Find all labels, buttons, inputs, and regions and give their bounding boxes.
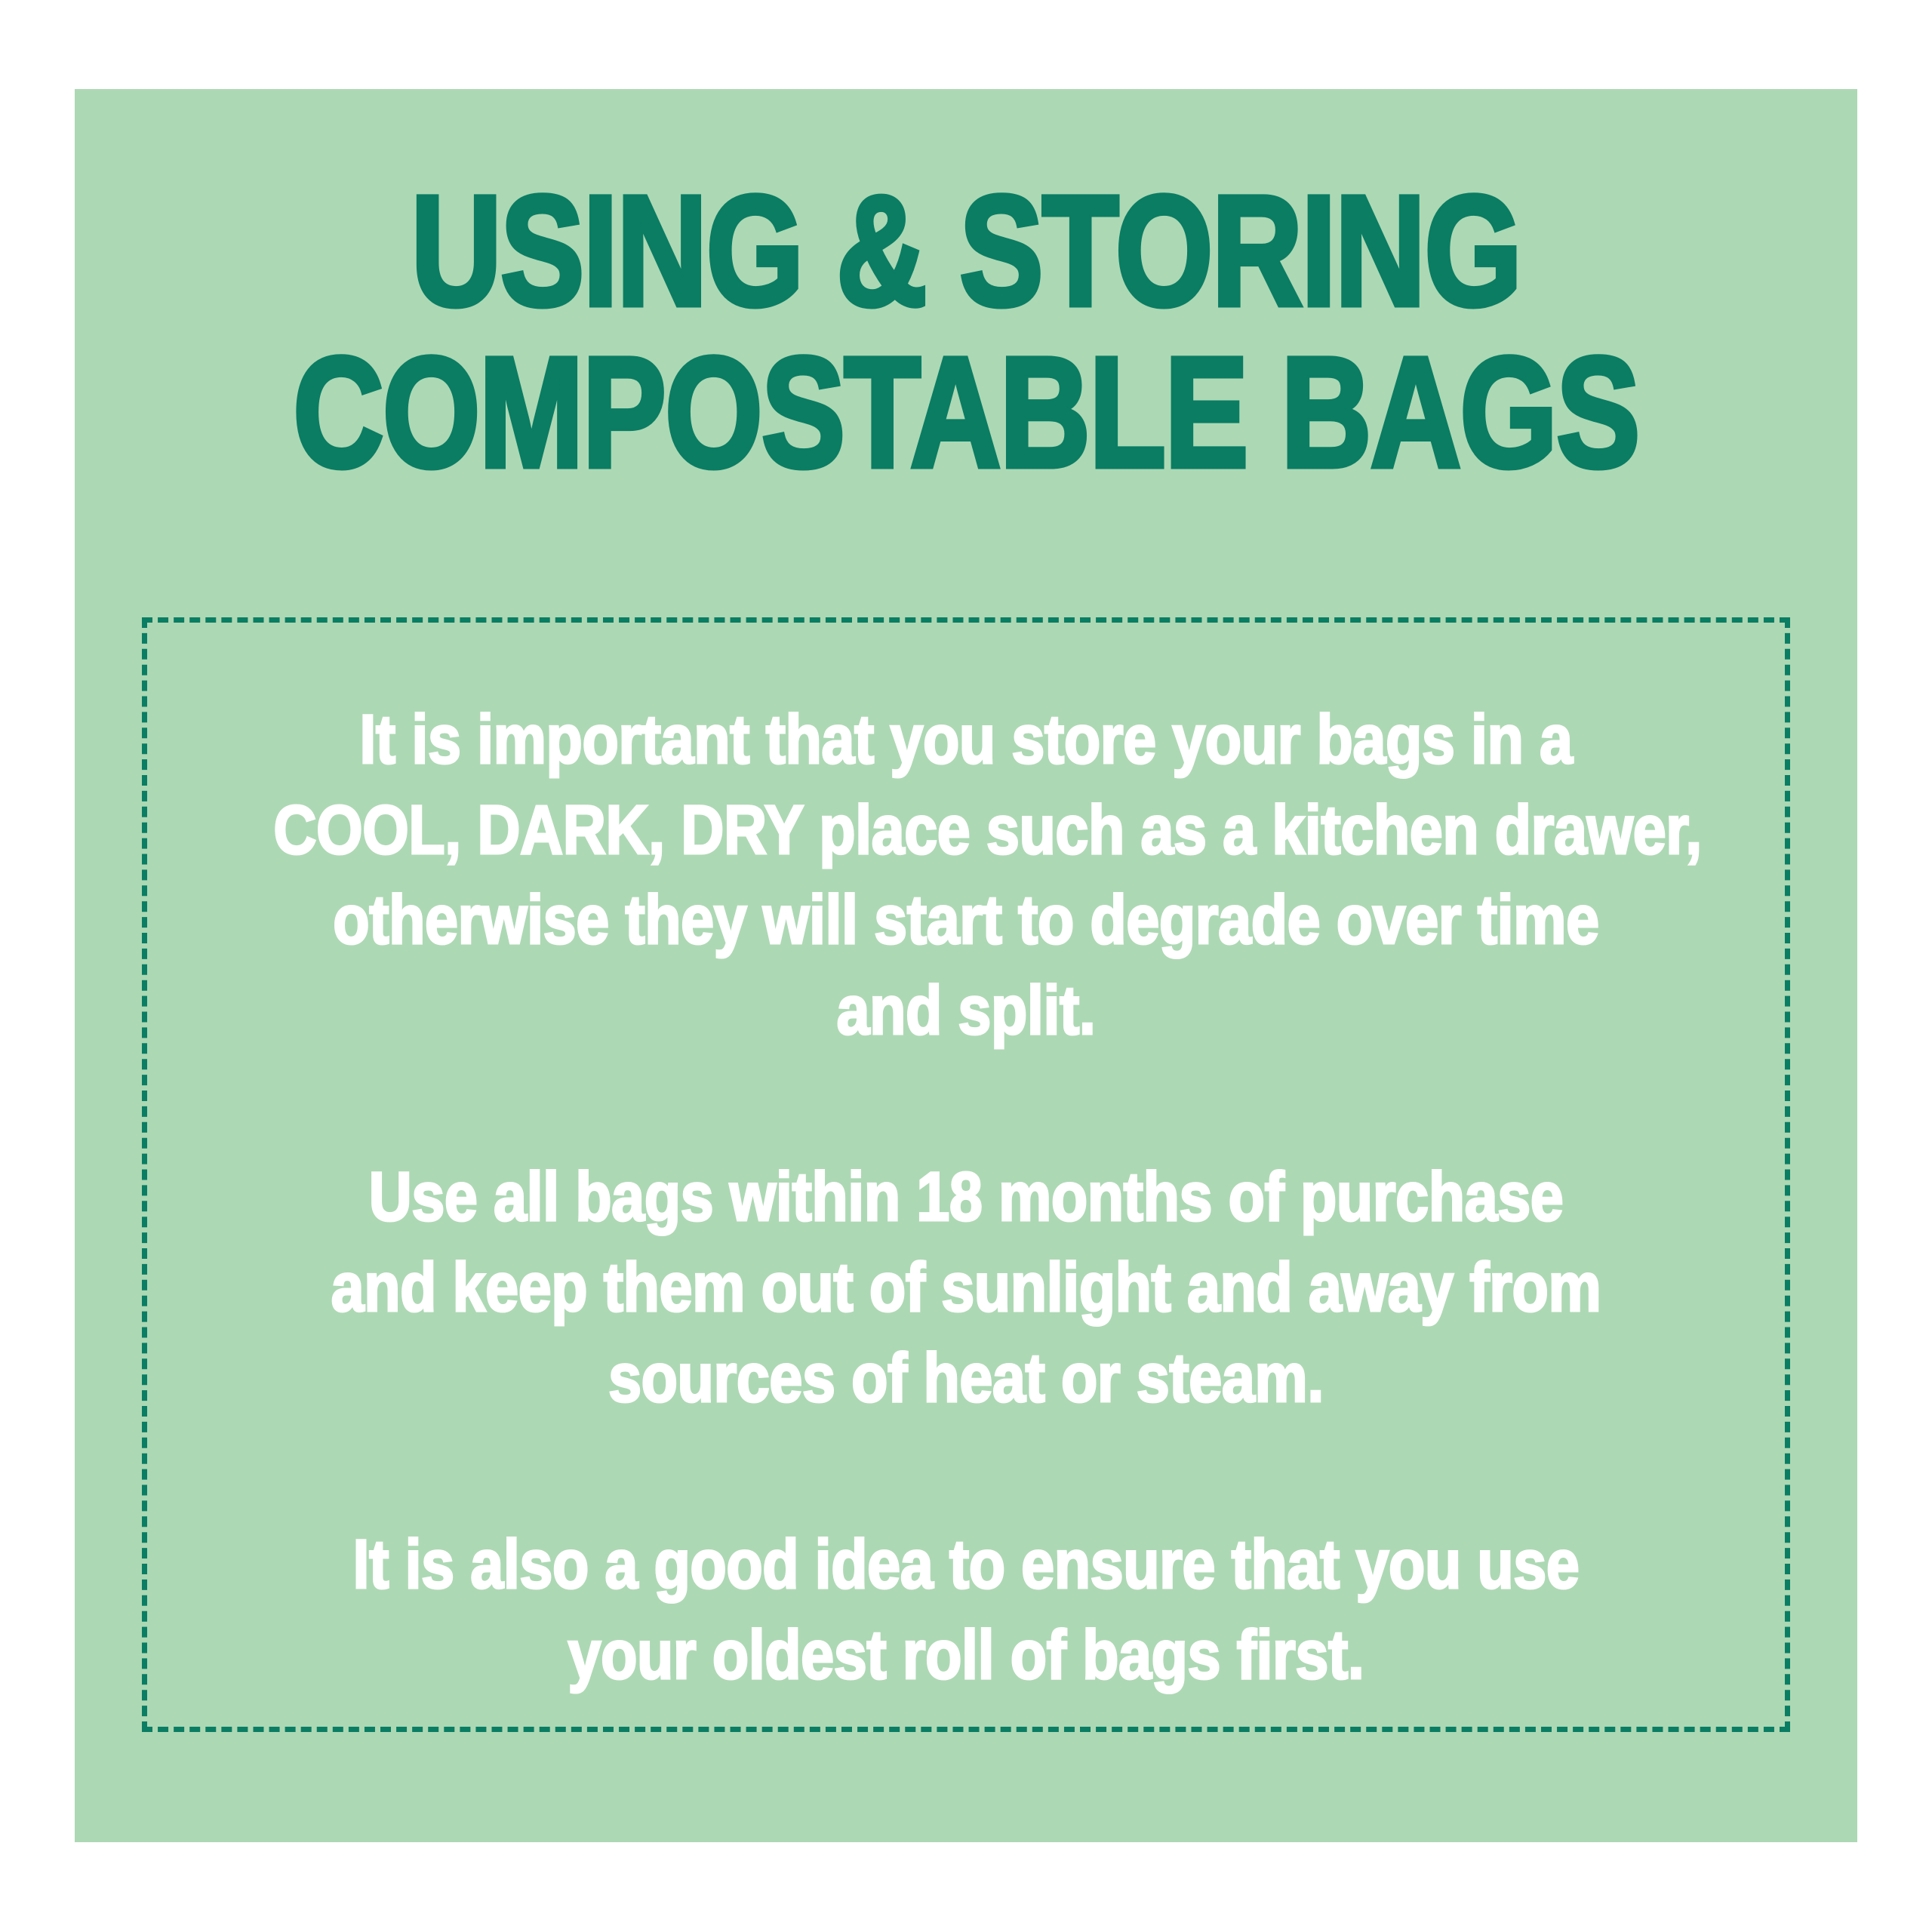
paragraph-line: It is important that you store your bags… [273, 695, 1658, 786]
dashed-content-box: It is important that you store your bags… [142, 617, 1790, 1732]
paragraph-shelf-life: Use all bags within 18 months of purchas… [273, 1152, 1658, 1423]
page-title-line-2: COMPOSTABLE BAGS [253, 332, 1679, 494]
body-copy: It is important that you store your bags… [147, 695, 1785, 1700]
paragraph-line: otherwise they will start to degrade ove… [273, 875, 1658, 966]
paragraph-line: It is also a good idea to ensure that yo… [273, 1520, 1658, 1611]
paragraph-line: your oldest roll of bags first. [273, 1611, 1658, 1701]
paragraph-line: and split. [273, 966, 1658, 1057]
paragraph-line: and keep them out of sunlight and away f… [273, 1243, 1658, 1334]
paragraph-line: COOL, DARK, DRY place such as a kitchen … [273, 786, 1658, 876]
page-title-line-1: USING & STORING [253, 171, 1679, 332]
paragraph-line: sources of heat or steam. [273, 1334, 1658, 1424]
paragraph-storage-conditions: It is important that you store your bags… [273, 695, 1658, 1056]
paragraph-rotation-tip: It is also a good idea to ensure that yo… [273, 1520, 1658, 1700]
paragraph-line: Use all bags within 18 months of purchas… [273, 1152, 1658, 1243]
infographic-card: USING & STORING COMPOSTABLE BAGS It is i… [75, 89, 1857, 1842]
page-title: USING & STORING COMPOSTABLE BAGS [75, 171, 1857, 494]
